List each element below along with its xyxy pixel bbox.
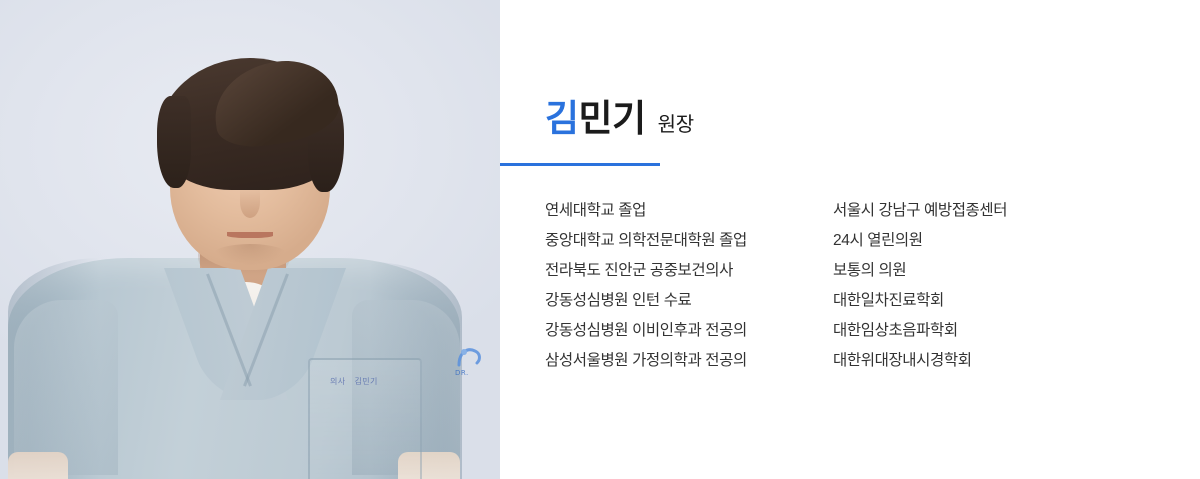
arm-left xyxy=(8,452,68,479)
credentials-column-right: 서울시 강남구 예방접종센터 24시 열린의원 보통의 의원 대한일차진료학회 … xyxy=(833,196,1133,376)
credential-item: 강동성심병원 이비인후과 전공의 xyxy=(545,316,833,346)
credential-item: 연세대학교 졸업 xyxy=(545,196,833,226)
doctor-profile-card: 의사 김민기 DR. xyxy=(0,0,1200,479)
doctor-title: 원장 xyxy=(658,108,694,137)
doctor-info-panel: 김민기 원장 연세대학교 졸업 중앙대학교 의학전문대학원 졸업 전라북도 진안… xyxy=(500,0,1200,479)
credential-item: 24시 열린의원 xyxy=(833,226,1133,256)
doctor-photo-panel: 의사 김민기 DR. xyxy=(0,0,500,479)
credentials-column-left: 연세대학교 졸업 중앙대학교 의학전문대학원 졸업 전라북도 진안군 공중보건의… xyxy=(545,196,833,376)
credential-item: 대한일차진료학회 xyxy=(833,286,1133,316)
accent-divider xyxy=(500,163,660,166)
credential-item: 대한임상초음파학회 xyxy=(833,316,1133,346)
credential-item: 강동성심병원 인턴 수료 xyxy=(545,286,833,316)
credential-item: 전라북도 진안군 공중보건의사 xyxy=(545,256,833,286)
credentials-columns: 연세대학교 졸업 중앙대학교 의학전문대학원 졸업 전라북도 진안군 공중보건의… xyxy=(545,196,1133,376)
credential-item: 보통의 의원 xyxy=(833,256,1133,286)
clinic-logo-icon: DR. xyxy=(455,345,497,381)
nose xyxy=(240,186,260,218)
doctor-surname: 김 xyxy=(545,98,579,139)
embroidery-role: 의사 xyxy=(330,376,346,387)
doctor-name: 김민기 xyxy=(545,100,646,137)
doctor-portrait-image: 의사 김민기 DR. xyxy=(0,0,500,479)
doctor-given-name: 민기 xyxy=(579,98,646,139)
credential-item: 삼성서울병원 가정의학과 전공의 xyxy=(545,346,833,376)
chin-shadow xyxy=(212,244,288,266)
mouth xyxy=(227,232,273,238)
embroidery-name: 김민기 xyxy=(355,376,378,387)
hair-side-left xyxy=(157,96,191,188)
credential-item: 중앙대학교 의학전문대학원 졸업 xyxy=(545,226,833,256)
clinic-logo-text: DR. xyxy=(455,369,469,377)
credential-item: 대한위대장내시경학회 xyxy=(833,346,1133,376)
doctor-name-row: 김민기 원장 xyxy=(545,100,694,137)
scrubs-sleeve-left xyxy=(14,300,118,475)
credential-item: 서울시 강남구 예방접종센터 xyxy=(833,196,1133,226)
name-badge-embroidery: 의사 김민기 xyxy=(330,374,402,388)
